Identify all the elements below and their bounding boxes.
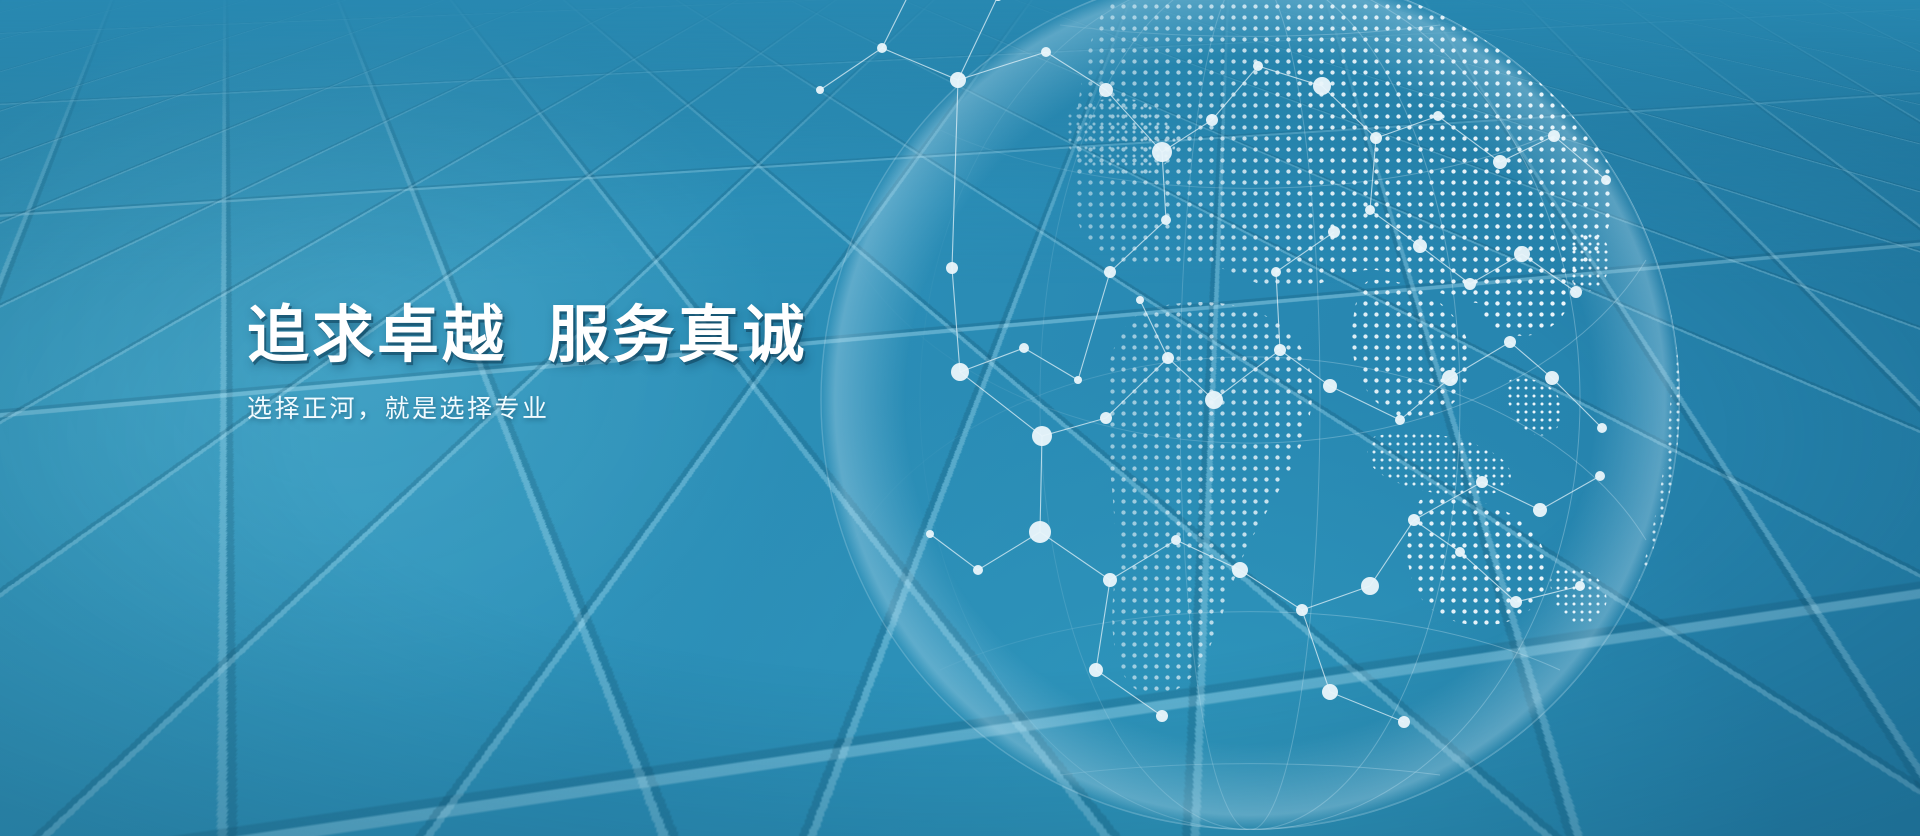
hero-banner: 追求卓越 服务真诚 选择正河，就是选择专业: [0, 0, 1920, 836]
banner-subheadline: 选择正河，就是选择专业: [247, 392, 1007, 427]
banner-headline: 追求卓越 服务真诚: [247, 300, 1007, 372]
banner-copy: 追求卓越 服务真诚 选择正河，就是选择专业: [247, 300, 1007, 427]
